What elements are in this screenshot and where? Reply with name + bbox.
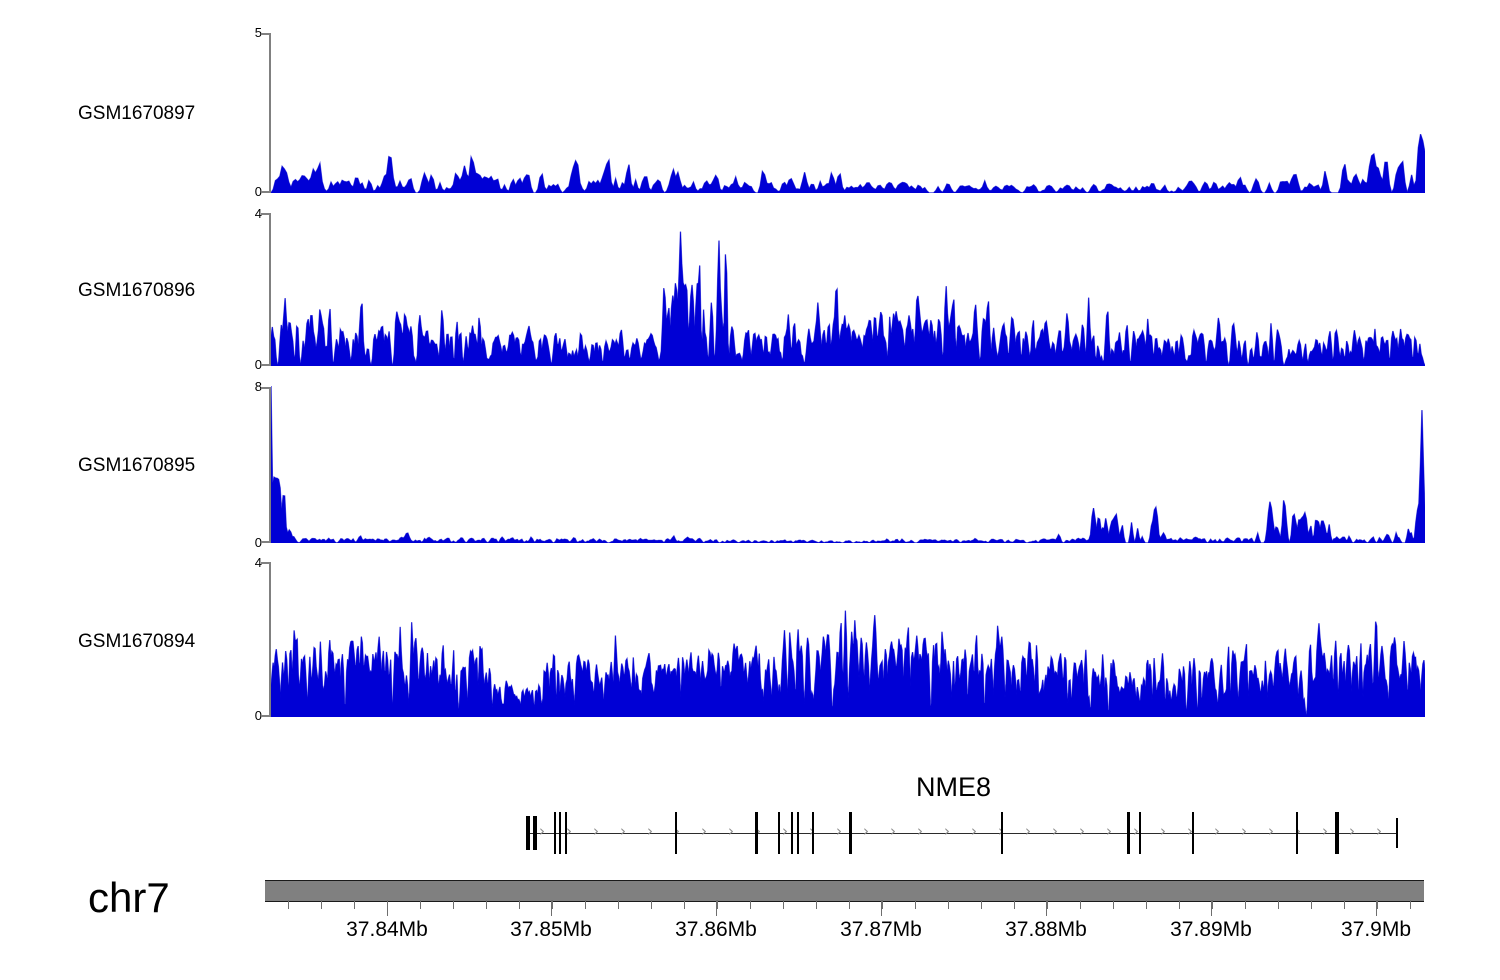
gene-model-track[interactable]: NME8 ›››››››››››››››››››››››››››››››› (0, 760, 1500, 860)
ruler-tick-minor (1344, 900, 1345, 909)
ruler-tick-minor (1410, 900, 1411, 909)
strand-arrow-icon: › (1106, 824, 1112, 839)
track-1-tick-min (261, 191, 270, 193)
ruler-tick-minor (354, 900, 355, 909)
ruler-tick-minor (882, 900, 883, 909)
track-1-plot (271, 32, 1425, 193)
ruler-tick-minor (915, 900, 916, 909)
ruler-tick-major (387, 900, 388, 916)
ruler-tick-minor (981, 900, 982, 909)
gene-exon[interactable] (565, 812, 567, 854)
track-2-tick-max (261, 213, 270, 215)
ruler-tick-major (551, 900, 552, 916)
ruler-ticks: 37.84Mb37.85Mb37.86Mb37.87Mb37.88Mb37.89… (0, 860, 1500, 980)
strand-arrow-icon: › (836, 824, 842, 839)
ruler-tick-minor (1179, 900, 1180, 909)
track-2-axis-max: 4 (236, 206, 262, 221)
ruler-tick-minor (1080, 900, 1081, 909)
ruler-tick-minor (1014, 900, 1015, 909)
gene-exon[interactable] (559, 812, 561, 854)
ruler-tick-major (1046, 900, 1047, 916)
strand-arrow-icon: › (1376, 824, 1382, 839)
track-3-tick-min (261, 541, 270, 543)
strand-arrow-icon: › (593, 824, 599, 839)
track-label-3: GSM1670895 (78, 455, 195, 477)
chromosome-ruler: chr7 37.84Mb37.85Mb37.86Mb37.87Mb37.88Mb… (0, 860, 1500, 980)
track-label-4: GSM1670894 (78, 631, 195, 653)
ruler-label: 37.86Mb (675, 918, 757, 942)
gene-exon[interactable] (812, 812, 814, 854)
ruler-label: 37.84Mb (346, 918, 428, 942)
strand-arrow-icon: › (944, 824, 950, 839)
strand-arrow-icon: › (1052, 824, 1058, 839)
ruler-tick-minor (1113, 900, 1114, 909)
ruler-tick-major (1376, 900, 1377, 916)
strand-arrow-icon: › (890, 824, 896, 839)
ruler-tick-minor (849, 900, 850, 909)
gene-exon[interactable] (778, 812, 780, 854)
gene-exon[interactable] (554, 812, 556, 854)
strand-arrow-icon: › (620, 824, 626, 839)
ruler-tick-minor (717, 900, 718, 909)
ruler-tick-minor (651, 900, 652, 909)
strand-arrow-icon: › (647, 824, 653, 839)
ruler-tick-minor (1311, 900, 1312, 909)
ruler-tick-minor (618, 900, 619, 909)
genome-browser-canvas: GSM1670897 5 0 GSM1670896 4 0 GSM1670895… (0, 0, 1500, 980)
strand-arrow-icon: › (971, 824, 977, 839)
ruler-tick-minor (1278, 900, 1279, 909)
track-4-axis-min: 0 (236, 708, 262, 723)
ruler-tick-minor (420, 900, 421, 909)
ruler-tick-minor (321, 900, 322, 909)
strand-arrow-icon: › (728, 824, 734, 839)
ruler-tick-minor (288, 900, 289, 909)
gene-exon[interactable] (755, 812, 758, 854)
ruler-tick-minor (1146, 900, 1147, 909)
track-1-tick-max (261, 33, 270, 35)
ruler-tick-major (1211, 900, 1212, 916)
track-3-plot (271, 386, 1425, 543)
track-2-tick-min (261, 364, 270, 366)
ruler-tick-major (716, 900, 717, 916)
gene-exon[interactable] (533, 816, 537, 850)
ruler-tick-minor (816, 900, 817, 909)
strand-arrow-icon: › (1214, 824, 1220, 839)
track-1-axis-min: 0 (236, 184, 262, 199)
ruler-tick-minor (1212, 900, 1213, 909)
gene-exon[interactable] (1296, 812, 1298, 854)
strand-arrow-icon: › (863, 824, 869, 839)
gene-exon[interactable] (526, 816, 530, 850)
strand-arrow-icon: › (1241, 824, 1247, 839)
ruler-tick-minor (519, 900, 520, 909)
gene-exon[interactable] (849, 812, 852, 854)
ruler-tick-minor (948, 900, 949, 909)
ruler-label: 37.89Mb (1170, 918, 1252, 942)
strand-arrow-icon: › (1349, 824, 1355, 839)
gene-intron-line (529, 833, 1397, 834)
track-1-axis-max: 5 (236, 25, 262, 40)
strand-arrow-icon: › (782, 824, 788, 839)
strand-arrow-icon: › (1268, 824, 1274, 839)
ruler-tick-minor (750, 900, 751, 909)
strand-arrow-icon: › (1079, 824, 1085, 839)
ruler-label: 37.88Mb (1005, 918, 1087, 942)
coverage-track-1: GSM1670897 5 0 (0, 0, 1500, 205)
track-4-plot (271, 561, 1425, 717)
gene-exon[interactable] (1139, 812, 1141, 854)
ruler-tick-minor (585, 900, 586, 909)
gene-exon[interactable] (1127, 812, 1130, 854)
strand-arrow-icon: › (1160, 824, 1166, 839)
coverage-track-2: GSM1670896 4 0 (0, 205, 1500, 377)
strand-arrow-icon: › (701, 824, 707, 839)
ruler-tick-minor (783, 900, 784, 909)
gene-exon[interactable] (1192, 812, 1194, 854)
gene-exon[interactable] (1001, 812, 1003, 854)
ruler-tick-major (881, 900, 882, 916)
coverage-track-4: GSM1670894 4 0 (0, 554, 1500, 729)
gene-exon[interactable] (797, 812, 799, 854)
ruler-tick-minor (552, 900, 553, 909)
track-4-tick-max (261, 562, 270, 564)
track-2-axis-min: 0 (236, 357, 262, 372)
ruler-tick-minor (684, 900, 685, 909)
strand-arrow-icon: › (539, 824, 545, 839)
strand-arrow-icon: › (1025, 824, 1031, 839)
track-3-axis-min: 0 (236, 535, 262, 550)
strand-arrow-icon: › (917, 824, 923, 839)
track-label-1: GSM1670897 (78, 103, 195, 125)
track-4-tick-min (261, 715, 270, 717)
ruler-tick-minor (1245, 900, 1246, 909)
ruler-tick-minor (1047, 900, 1048, 909)
track-label-2: GSM1670896 (78, 280, 195, 302)
gene-structure[interactable]: ›››››››››››››››››››››››››››››››› (0, 760, 1500, 860)
track-3-axis-max: 8 (236, 379, 262, 394)
gene-exon[interactable] (791, 812, 793, 854)
track-3-tick-max (261, 387, 270, 389)
ruler-tick-minor (486, 900, 487, 909)
track-2-plot (271, 212, 1425, 366)
strand-arrow-icon: › (1322, 824, 1328, 839)
ruler-label: 37.87Mb (840, 918, 922, 942)
coverage-track-3: GSM1670895 8 0 (0, 377, 1500, 554)
gene-exon[interactable] (1396, 818, 1398, 848)
gene-exon[interactable] (675, 812, 677, 854)
ruler-label: 37.85Mb (510, 918, 592, 942)
ruler-tick-minor (1377, 900, 1378, 909)
track-4-axis-max: 4 (236, 555, 262, 570)
ruler-label: 37.9Mb (1341, 918, 1411, 942)
ruler-tick-minor (453, 900, 454, 909)
gene-exon[interactable] (1335, 812, 1339, 854)
